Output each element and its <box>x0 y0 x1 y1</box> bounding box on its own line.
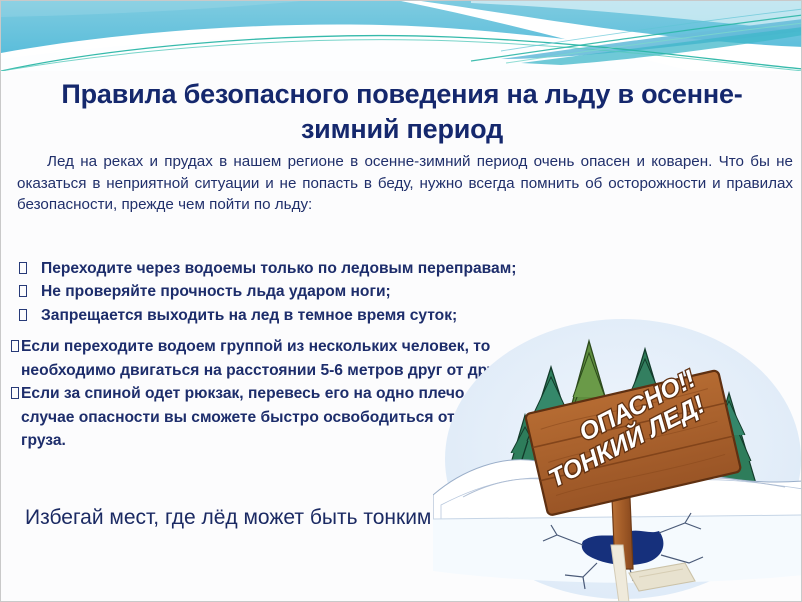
list-item-label: Переходите через водоемы только по ледов… <box>41 257 516 280</box>
intro-paragraph: Лед на реках и прудах в нашем регионе в … <box>17 151 793 216</box>
missing-glyph-box-icon <box>11 340 19 352</box>
closing-statement: Избегай мест, где лёд может быть тонким! <box>25 506 437 530</box>
decorative-wave-banner <box>1 1 802 71</box>
list-item-label: Не проверяйте прочность льда ударом ноги… <box>41 280 391 303</box>
missing-glyph-box-icon <box>19 285 27 297</box>
page-title: Правила безопасного поведения на льду в … <box>31 77 773 147</box>
missing-glyph-box-icon <box>19 262 27 274</box>
rules-primary-list: Переходите через водоемы только по ледов… <box>19 257 779 327</box>
slide: Правила безопасного поведения на льду в … <box>0 0 802 602</box>
missing-glyph-box-icon <box>11 387 19 399</box>
list-item-label: Запрещается выходить на лед в темное вре… <box>41 304 457 327</box>
list-item: Переходите через водоемы только по ледов… <box>19 257 779 280</box>
ice-warning-illustration: ОПАСНО!! ТОНКИЙ ЛЕД! <box>433 319 802 602</box>
list-item: Не проверяйте прочность льда ударом ноги… <box>19 280 779 303</box>
missing-glyph-box-icon <box>19 309 27 321</box>
